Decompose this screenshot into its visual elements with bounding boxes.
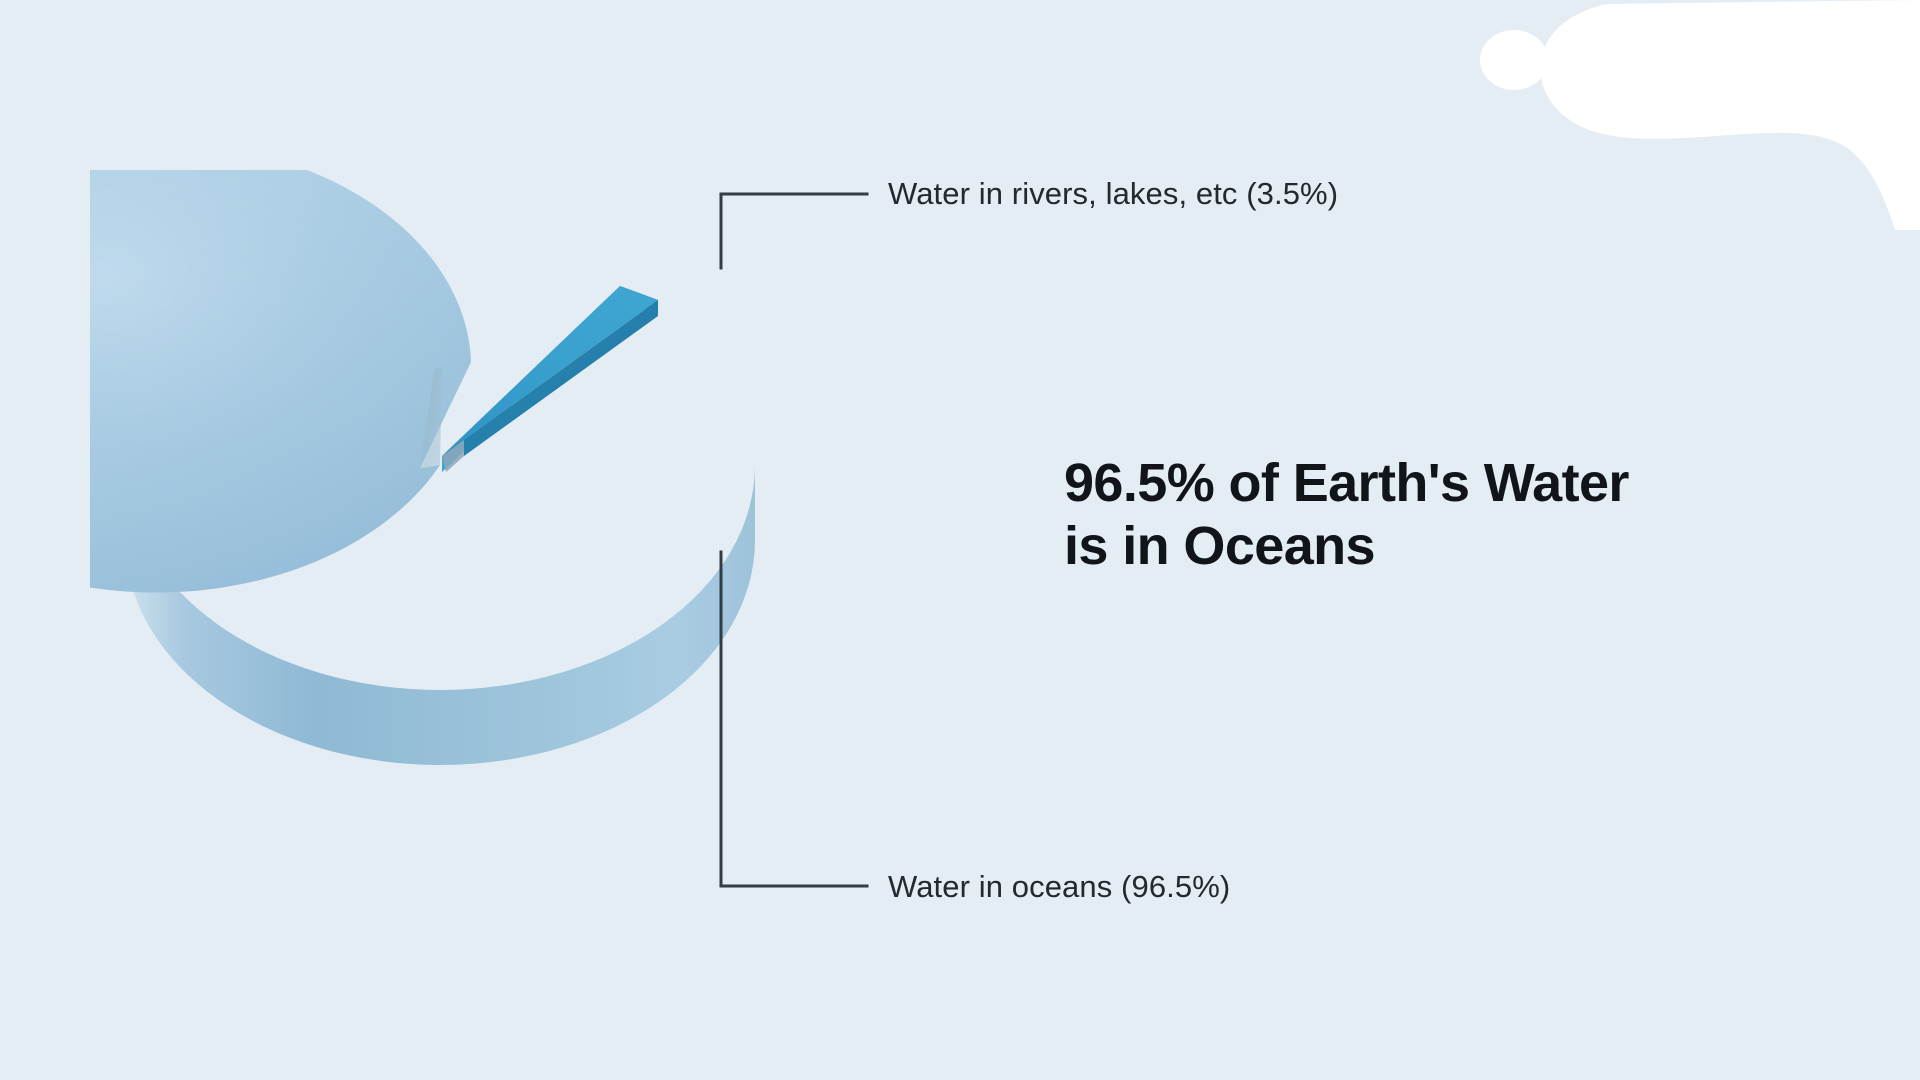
decorative-blob-shape xyxy=(1541,0,1920,230)
headline-line-1: 96.5% of Earth's Water xyxy=(1064,452,1804,515)
slice-rivers-side-right xyxy=(464,300,658,456)
infographic-canvas: Water in rivers, lakes, etc (3.5%) Water… xyxy=(0,0,1920,1080)
pie-chart xyxy=(90,170,890,810)
slice-oceans-top-highlight xyxy=(90,170,471,593)
slice-rivers-top xyxy=(442,286,658,456)
callout-label-rivers: Water in rivers, lakes, etc (3.5%) xyxy=(888,176,1338,212)
headline: 96.5% of Earth's Water is in Oceans xyxy=(1064,452,1804,577)
slice-rivers-tip-shadow xyxy=(442,440,464,472)
slice-rivers xyxy=(442,286,658,472)
headline-line-2: is in Oceans xyxy=(1064,515,1804,578)
callout-label-oceans: Water in oceans (96.5%) xyxy=(888,869,1230,905)
slice-oceans xyxy=(90,170,755,765)
decorative-dot xyxy=(1480,30,1548,90)
